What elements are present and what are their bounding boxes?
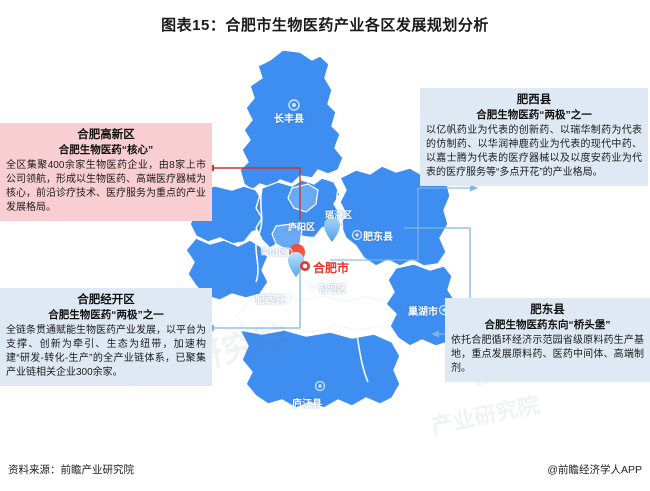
- info-box-subtitle: 合肥生物医药东向“桥头堡”: [451, 318, 644, 333]
- info-box-body: 全区集聚400余家生物医药企业，由8家上市公司领航，形成以生物医药、高端医疗器械…: [6, 159, 206, 215]
- app-credit: @前瞻经济学人APP: [547, 462, 642, 477]
- map-label-lujiang: 庐江县: [292, 395, 322, 410]
- map-label-feixi: 肥西县: [255, 291, 285, 306]
- circle-target-icon-baohe: [308, 283, 316, 291]
- info-box-body: 全链条贯通赋能生物医药产业发展，以平台为支撑、创新为牵引、生态为纽带，加速构建“…: [6, 324, 206, 380]
- map-label-changfeng: 长丰县: [274, 110, 304, 125]
- map-label-hefei-city: 合肥市: [313, 259, 349, 276]
- info-box-body: 依托合肥循环经济示范园省级原料药生产基地，重点发展原料药、医药中间体、高端制剂。: [451, 334, 644, 376]
- infographic-root: 图表15：合肥市生物医药产业各区发展规划分析: [0, 0, 650, 491]
- info-box-title: 合肥经开区: [6, 292, 206, 308]
- info-box-jingkai[interactable]: 合肥经开区 合肥生物医药“两极”之一 全链条贯通赋能生物医药产业发展，以平台为支…: [0, 288, 212, 386]
- info-box-body: 以亿帆药业为代表的创新药、以瑞华制药为代表的仿制药、以华润神鹿药业为代表的现代中…: [426, 124, 642, 180]
- source-note: 资料来源：前瞻产业研究院: [8, 462, 134, 477]
- info-box-title: 肥东县: [451, 302, 644, 318]
- map-label-feidong: 肥东县: [363, 228, 393, 243]
- map-label-baohe: 包河区: [318, 281, 347, 295]
- map-label-luyang: 庐阳区: [288, 220, 315, 233]
- info-box-feidong[interactable]: 肥东县 合肥生物医药东向“桥头堡” 依托合肥循环经济示范园省级原料药生产基地，重…: [445, 298, 650, 382]
- map-label-chaohushi: 巢湖市: [408, 303, 438, 318]
- info-box-subtitle: 合肥生物医药“两极”之一: [426, 108, 642, 123]
- info-box-feixi[interactable]: 肥西县 合肥生物医药“两极”之一 以亿帆药业为代表的创新药、以瑞华制药为代表的仿…: [420, 88, 648, 186]
- capital-city-dot: [300, 261, 310, 271]
- info-box-gaoxin[interactable]: 合肥高新区 合肥生物医药“核心” 全区集聚400余家生物医药企业，由8家上市公司…: [0, 123, 212, 221]
- map-label-yaohai: 瑶海区: [325, 208, 352, 221]
- info-box-subtitle: 合肥生物医药“核心”: [6, 143, 206, 158]
- info-box-title: 肥西县: [426, 92, 642, 108]
- info-box-subtitle: 合肥生物医药“两极”之一: [6, 308, 206, 323]
- map-label-shushan: 蜀山区: [260, 245, 287, 258]
- info-box-title: 合肥高新区: [6, 127, 206, 143]
- page-title: 图表15：合肥市生物医药产业各区发展规划分析: [0, 14, 650, 35]
